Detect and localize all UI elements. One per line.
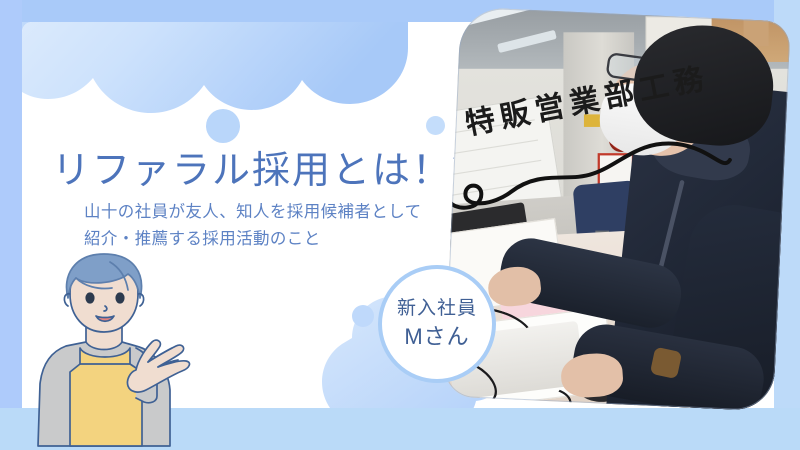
photo-department-sign: 特販営業部工務 xyxy=(443,51,780,147)
page-title: リファラル採用とは！？ xyxy=(52,139,492,194)
decorative-circle-medium xyxy=(352,305,374,327)
status-badge: 新入社員 Mさん xyxy=(378,265,496,383)
employee-photo: 特販営業部工務 xyxy=(443,7,790,412)
banner-root: リファラル採用とは！？ 山十の社員が友人、知人を採用候補者として 紹介・推薦する… xyxy=(0,0,800,450)
page-subtitle: 山十の社員が友人、知人を採用候補者として 紹介・推薦する採用活動のこと xyxy=(84,199,422,252)
photo-sign-squiggle xyxy=(443,133,761,213)
decorative-circle-small xyxy=(426,116,445,135)
badge-label-name: Mさん xyxy=(404,322,469,352)
photo-scene: 特販営業部工務 xyxy=(443,7,790,412)
subtitle-line-2: 紹介・推薦する採用活動のこと xyxy=(84,226,422,253)
decorative-circle-large xyxy=(206,109,240,143)
frame-left-strip xyxy=(0,0,22,450)
subtitle-line-1: 山十の社員が友人、知人を採用候補者として xyxy=(84,199,422,226)
photo-wristwatch xyxy=(650,347,682,379)
badge-label-role: 新入社員 xyxy=(397,297,477,322)
photo-sign-text: 特販営業部工務 xyxy=(461,55,712,144)
illustration-person xyxy=(24,250,214,450)
